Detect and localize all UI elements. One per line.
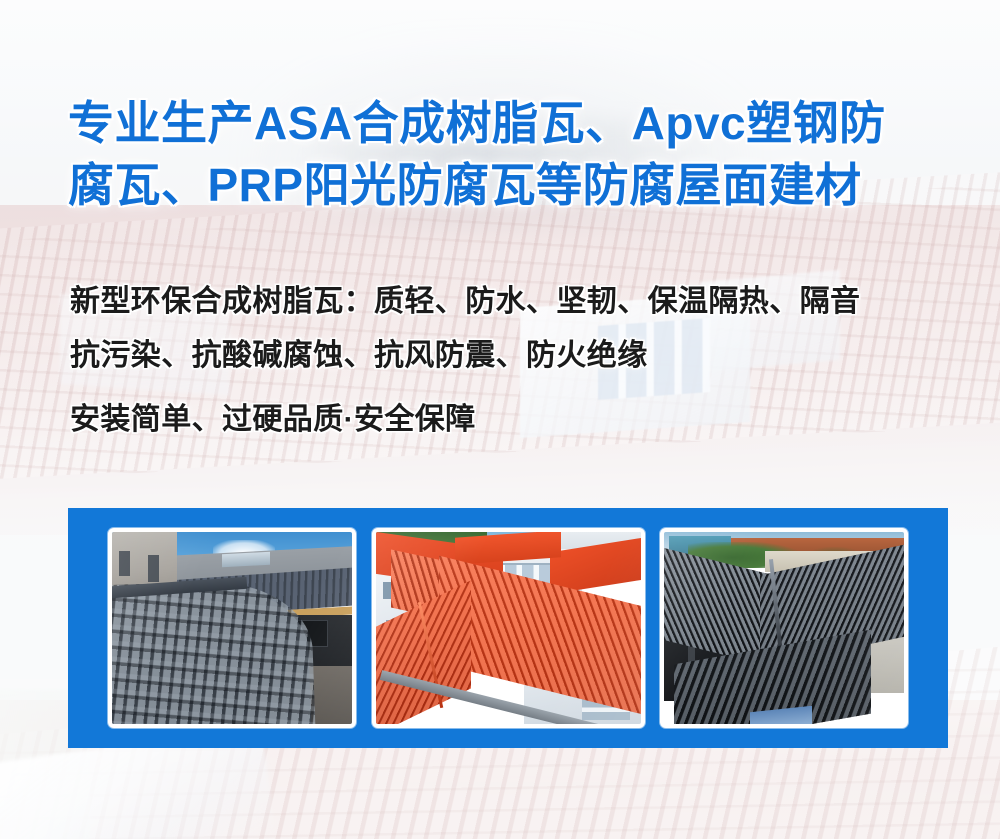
photo-gallery-panel xyxy=(68,508,948,748)
p1-background-window xyxy=(222,552,270,568)
feature-text-block: 新型环保合成树脂瓦：质轻、防水、坚韧、保温隔热、隔音 抗污染、抗酸碱腐蚀、抗风防… xyxy=(70,275,960,447)
photo-1-scene xyxy=(112,532,352,724)
grey-resin-tile-roof-photo[interactable] xyxy=(108,528,356,728)
headline-line-1: 专业生产ASA合成树脂瓦、Apvc塑钢防 xyxy=(68,92,948,154)
p1-window xyxy=(119,551,130,576)
p1-window xyxy=(148,555,159,582)
banner-content: 专业生产ASA合成树脂瓦、Apvc塑钢防 腐瓦、PRP阳光防腐瓦等防腐屋面建材 … xyxy=(0,0,1000,839)
feature-line-1: 新型环保合成树脂瓦：质轻、防水、坚韧、保温隔热、隔音 xyxy=(70,275,960,329)
headline: 专业生产ASA合成树脂瓦、Apvc塑钢防 腐瓦、PRP阳光防腐瓦等防腐屋面建材 xyxy=(68,92,948,216)
red-resin-tile-roof-photo[interactable] xyxy=(372,528,645,728)
photo-2-scene xyxy=(376,532,641,724)
headline-line-2: 腐瓦、PRP阳光防腐瓦等防腐屋面建材 xyxy=(68,154,948,216)
black-resin-tile-roof-photo[interactable] xyxy=(660,528,908,728)
photo-3-scene xyxy=(664,532,904,724)
product-promo-banner: 专业生产ASA合成树脂瓦、Apvc塑钢防 腐瓦、PRP阳光防腐瓦等防腐屋面建材 … xyxy=(0,0,1000,839)
feature-line-2: 抗污染、抗酸碱腐蚀、抗风防震、防火绝缘 xyxy=(70,329,960,383)
feature-line-3: 安装简单、过硬品质·安全保障 xyxy=(70,393,960,447)
